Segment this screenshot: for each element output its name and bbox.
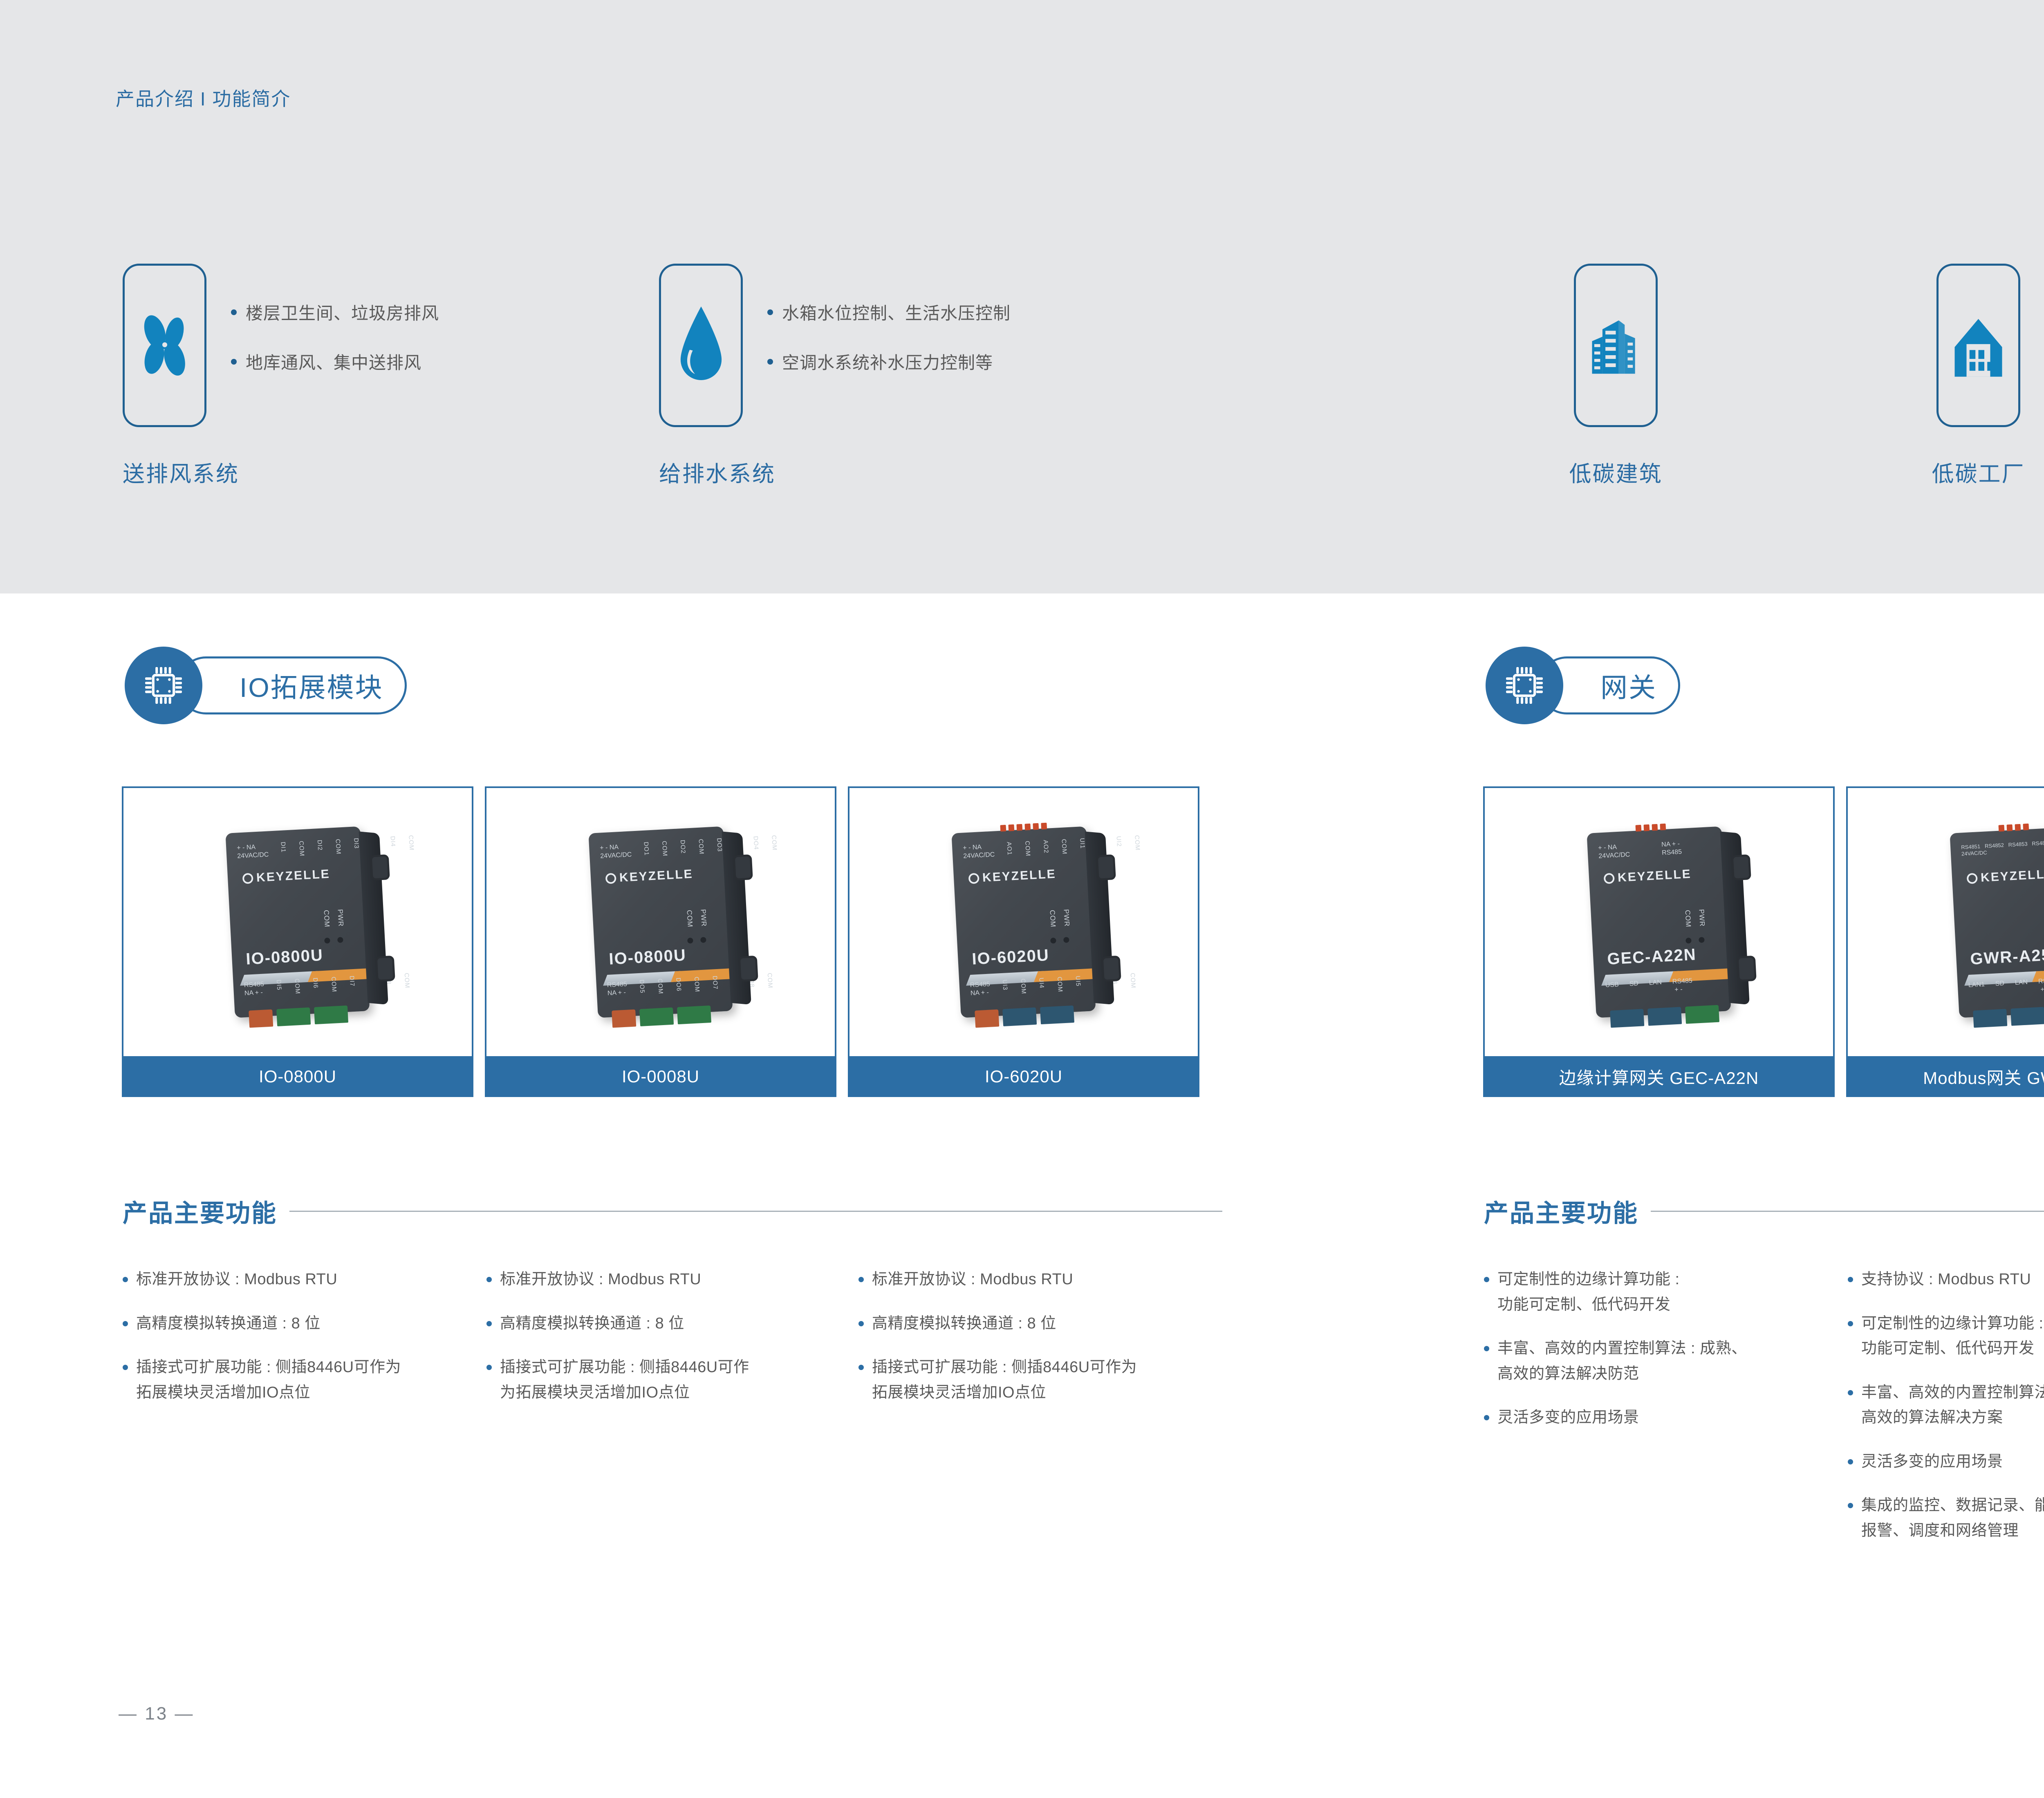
features-heading-io: 产品主要功能	[123, 1193, 1222, 1229]
device-led-labels: COM PWR	[685, 909, 708, 927]
list-item: 楼层卫生间、垃圾房排风	[231, 300, 439, 325]
bullet-text: 水箱水位控制、生活水压控制	[782, 300, 1011, 325]
bullet-dot-icon	[1484, 1346, 1489, 1351]
product-caption: IO-6020U	[848, 1056, 1199, 1097]
bullet-dot-icon	[767, 309, 773, 315]
product-caption: Modbus网关 GWR-A25N	[1846, 1056, 2044, 1097]
application-label: 低碳工厂	[1932, 456, 2025, 488]
gateway-product-cards: + - NA24VAC/DC NA + -RS485 KEYZELLE COM …	[1483, 786, 2044, 1097]
feature-item: 高精度模拟转换通道 : 8 位	[858, 1311, 1222, 1337]
device-top-connectors	[1636, 824, 1666, 832]
office-building-icon-frame	[1574, 264, 1658, 427]
mount-ear-bottom	[1737, 956, 1757, 982]
device-top-connectors	[1999, 824, 2029, 832]
device-leds	[1050, 937, 1069, 943]
product-caption: 边缘计算网关 GEC-A22N	[1483, 1056, 1835, 1097]
bullet-dot-icon	[486, 1365, 492, 1370]
list-item: 水箱水位控制、生活水压控制	[767, 300, 1011, 325]
device-connectors	[612, 1005, 711, 1028]
product-image: + - NA24VAC/DC AO1COMAO2COM UI1COMUI2COM…	[848, 786, 1199, 1056]
bullet-dot-icon	[1848, 1459, 1853, 1464]
bullet-dot-icon	[1484, 1277, 1489, 1282]
bullet-dot-icon	[123, 1277, 128, 1282]
brand-ring-icon	[242, 873, 253, 884]
brand-ring-icon	[1967, 873, 1978, 884]
bullet-dot-icon	[1848, 1503, 1853, 1508]
office-building-icon	[1586, 308, 1645, 383]
device-connectors	[975, 1005, 1074, 1028]
scenario-label: 给排水系统	[659, 456, 775, 488]
mount-ear-bottom	[738, 956, 758, 982]
device-led-labels: COM PWR	[1048, 909, 1071, 927]
product-image: RS4851 RS4852 RS4853 RS485424VAC/DC KEYZ…	[1846, 786, 2044, 1056]
feature-item: 插接式可扩展功能 : 侧插8446U可作为 拓展模块灵活增加IO点位	[123, 1355, 486, 1405]
device-brand: KEYZELLE	[242, 867, 330, 886]
com-led-icon	[324, 938, 330, 944]
water-drop-icon-frame	[659, 264, 743, 427]
bullet-dot-icon	[1848, 1390, 1853, 1395]
list-item: 空调水系统补水压力控制等	[767, 349, 1011, 374]
features-column: 支持协议 : Modbus RTU 可定制性的边缘计算功能 : 功能可定制、低代…	[1848, 1267, 2044, 1562]
device-led-labels: COM PWR	[1683, 909, 1706, 927]
device-brand: KEYZELLE	[1966, 867, 2044, 886]
bullet-text: 楼层卫生间、垃圾房排风	[246, 300, 439, 325]
fan-icon	[134, 305, 195, 386]
com-led-icon	[1685, 938, 1692, 944]
top-gray-band	[0, 0, 2044, 593]
features-title: 产品主要功能	[1484, 1193, 1638, 1229]
device-illustration: + - NA24VAC/DC DO1COMDO2COM DO3COMDO4COM…	[588, 826, 733, 1018]
bullet-dot-icon	[1484, 1415, 1489, 1420]
feature-item: 标准开放协议 : Modbus RTU	[858, 1267, 1222, 1292]
bullet-dot-icon	[858, 1365, 864, 1370]
mount-ear-bottom	[375, 956, 395, 982]
feature-item: 灵活多变的应用场景	[1484, 1405, 1848, 1431]
section-title: 网关	[1600, 666, 1657, 705]
device-illustration: + - NA24VAC/DC AO1COMAO2COM UI1COMUI2COM…	[951, 826, 1096, 1018]
feature-item: 丰富、高效的内置控制算法 : 成熟、 高效的算法解决方案	[1848, 1380, 2044, 1431]
bullet-dot-icon	[123, 1365, 128, 1370]
device-illustration: + - NA24VAC/DC NA + -RS485 KEYZELLE COM …	[1587, 826, 1731, 1018]
device-connectors	[1973, 1005, 2044, 1028]
scenario-ventilation: 楼层卫生间、垃圾房排风 地库通风、集中送排风 送排风系统	[123, 264, 206, 427]
product-caption: IO-0008U	[485, 1056, 836, 1097]
scenario-water-supply: 水箱水位控制、生活水压控制 空调水系统补水压力控制等 给排水系统	[659, 264, 743, 427]
device-leds	[687, 937, 706, 943]
device-connectors	[249, 1005, 348, 1028]
pwr-led-icon	[1699, 937, 1705, 943]
mount-ear-top	[1731, 854, 1751, 880]
device-model: GEC-A22N	[1607, 945, 1697, 968]
application-low-carbon-building: 低碳建筑	[1574, 264, 1658, 427]
product-card[interactable]: + - NA24VAC/DC DI1COMDI2COM DI3COMDI4COM…	[122, 786, 473, 1097]
device-illustration: + - NA24VAC/DC DI1COMDI2COM DI3COMDI4COM…	[225, 826, 370, 1018]
bullet-dot-icon	[1848, 1277, 1853, 1282]
brochure-spread: 产品介绍 I 功能简介 产品介绍 I 功能简介 楼层卫生间、垃圾房排风	[0, 0, 2044, 1798]
product-caption: IO-0800U	[122, 1056, 473, 1097]
features-columns-gateway: 可定制性的边缘计算功能 : 功能可定制、低代码开发 丰富、高效的内置控制算法 :…	[1484, 1267, 2044, 1562]
fan-icon-frame	[123, 264, 206, 427]
product-image: + - NA24VAC/DC NA + -RS485 KEYZELLE COM …	[1483, 786, 1835, 1056]
feature-item: 标准开放协议 : Modbus RTU	[123, 1267, 486, 1292]
device-model: IO-0800U	[245, 946, 324, 969]
io-product-cards: + - NA24VAC/DC DI1COMDI2COM DI3COMDI4COM…	[122, 786, 1199, 1097]
feature-item: 插接式可扩展功能 : 侧插8446U可作 为拓展模块灵活增加IO点位	[486, 1355, 858, 1405]
product-card[interactable]: + - NA24VAC/DC NA + -RS485 KEYZELLE COM …	[1483, 786, 1835, 1097]
product-image: + - NA24VAC/DC DI1COMDI2COM DI3COMDI4COM…	[122, 786, 473, 1056]
device-brand: KEYZELLE	[968, 867, 1056, 886]
section-title-pill: IO拓展模块	[177, 656, 407, 714]
factory-icon-frame	[1936, 264, 2020, 427]
features-column: 标准开放协议 : Modbus RTU 高精度模拟转换通道 : 8 位 插接式可…	[486, 1267, 858, 1424]
com-led-icon	[1050, 938, 1056, 944]
feature-item: 丰富、高效的内置控制算法 : 成熟、 高效的算法解决防范	[1484, 1336, 1848, 1386]
features-columns-io: 标准开放协议 : Modbus RTU 高精度模拟转换通道 : 8 位 插接式可…	[123, 1267, 1222, 1424]
device-model: GWR-A25N	[1970, 945, 2044, 969]
pwr-led-icon	[337, 937, 343, 943]
feature-item: 集成的监控、数据记录、能耗计量、 报警、调度和网络管理	[1848, 1493, 2044, 1543]
device-top-terminals: RS4851 RS4852 RS4853 RS485424VAC/DC	[1961, 840, 2044, 858]
bullet-text: 地库通风、集中送排风	[246, 349, 421, 374]
list-item: 地库通风、集中送排风	[231, 349, 439, 374]
feature-item: 插接式可扩展功能 : 侧插8446U可作为 拓展模块灵活增加IO点位	[858, 1355, 1222, 1405]
features-column: 标准开放协议 : Modbus RTU 高精度模拟转换通道 : 8 位 插接式可…	[123, 1267, 486, 1424]
heading-rule	[289, 1211, 1222, 1212]
device-model: IO-6020U	[971, 946, 1050, 969]
heading-rule	[1651, 1211, 2044, 1212]
feature-item: 高精度模拟转换通道 : 8 位	[486, 1311, 858, 1337]
features-column: 可定制性的边缘计算功能 : 功能可定制、低代码开发 丰富、高效的内置控制算法 :…	[1484, 1267, 1848, 1562]
product-card[interactable]: + - NA24VAC/DC AO1COMAO2COM UI1COMUI2COM…	[848, 786, 1199, 1097]
com-led-icon	[687, 938, 693, 944]
bullet-dot-icon	[123, 1321, 128, 1326]
ventilation-bullets: 楼层卫生间、垃圾房排风 地库通风、集中送排风	[231, 300, 439, 374]
device-model: IO-0800U	[608, 946, 687, 969]
chip-icon	[1502, 663, 1546, 708]
features-heading-gateway: 产品主要功能	[1484, 1193, 2044, 1229]
mount-ear-top	[370, 854, 390, 880]
bullet-dot-icon	[767, 359, 773, 365]
bullet-dot-icon	[486, 1321, 492, 1326]
feature-item: 可定制性的边缘计算功能 : 功能可定制、低代码开发	[1484, 1267, 1848, 1317]
feature-item: 灵活多变的应用场景	[1848, 1449, 2044, 1475]
bullet-text: 空调水系统补水压力控制等	[782, 349, 993, 374]
running-head-left: 产品介绍 I 功能简介	[116, 84, 291, 111]
brand-ring-icon	[605, 873, 616, 884]
feature-item: 高精度模拟转换通道 : 8 位	[123, 1311, 486, 1337]
feature-item: 标准开放协议 : Modbus RTU	[486, 1267, 858, 1292]
bullet-dot-icon	[858, 1321, 864, 1326]
pwr-led-icon	[1063, 937, 1069, 943]
mount-ear-bottom	[1101, 956, 1121, 982]
bullet-dot-icon	[486, 1277, 492, 1282]
product-card[interactable]: RS4851 RS4852 RS4853 RS485424VAC/DC KEYZ…	[1846, 786, 2044, 1097]
brand-ring-icon	[968, 873, 979, 884]
device-leds	[324, 937, 343, 943]
device-connectors	[1610, 1005, 1719, 1028]
device-illustration: RS4851 RS4852 RS4853 RS485424VAC/DC KEYZ…	[1950, 826, 2044, 1018]
chip-icon	[141, 663, 186, 708]
application-label: 低碳建筑	[1569, 456, 1663, 488]
water-drop-icon	[675, 302, 728, 390]
water-bullets: 水箱水位控制、生活水压控制 空调水系统补水压力控制等	[767, 300, 1011, 374]
feature-item: 支持协议 : Modbus RTU	[1848, 1267, 2044, 1292]
bullet-dot-icon	[231, 309, 237, 315]
chip-icon-badge	[125, 647, 202, 724]
brand-ring-icon	[1604, 873, 1615, 884]
device-leds	[1685, 937, 1705, 943]
mount-ear-top	[1096, 854, 1116, 880]
chip-icon-badge	[1486, 647, 1563, 724]
device-top-terminals: + - NA24VAC/DC NA + -RS485	[1598, 840, 1682, 861]
bullet-dot-icon	[231, 359, 237, 365]
device-brand: KEYZELLE	[1603, 867, 1692, 886]
bullet-dot-icon	[858, 1277, 864, 1282]
feature-item: 可定制性的边缘计算功能 : 功能可定制、低代码开发	[1848, 1311, 2044, 1361]
features-title: 产品主要功能	[123, 1193, 277, 1229]
application-low-carbon-factory: 低碳工厂	[1936, 264, 2020, 427]
features-column: 标准开放协议 : Modbus RTU 高精度模拟转换通道 : 8 位 插接式可…	[858, 1267, 1222, 1424]
mount-ear-top	[733, 854, 753, 880]
product-image: + - NA24VAC/DC DO1COMDO2COM DO3COMDO4COM…	[485, 786, 836, 1056]
pwr-led-icon	[700, 937, 706, 943]
section-title: IO拓展模块	[240, 666, 383, 705]
product-card[interactable]: + - NA24VAC/DC DO1COMDO2COM DO3COMDO4COM…	[485, 786, 836, 1097]
bullet-dot-icon	[1848, 1321, 1853, 1326]
scenario-label: 送排风系统	[123, 456, 239, 488]
device-led-labels: COM PWR	[322, 909, 345, 927]
device-top-connectors	[1000, 823, 1047, 832]
device-brand: KEYZELLE	[605, 867, 693, 886]
factory-icon	[1949, 308, 2008, 383]
page-number-left: — 13 —	[119, 1704, 194, 1724]
